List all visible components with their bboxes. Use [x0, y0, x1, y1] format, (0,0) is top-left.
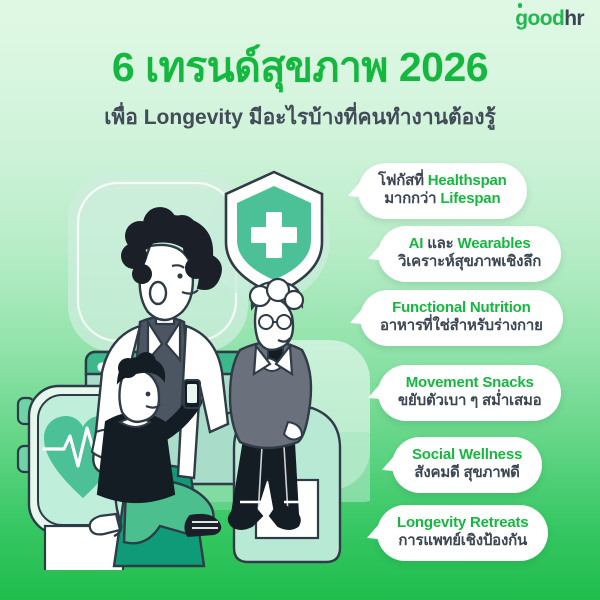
doctor-eye: [177, 273, 182, 278]
trend-5-line-2: สังคมดี สุขภาพดี: [412, 464, 522, 482]
trend-bubble-5[interactable]: Social Wellness สังคมดี สุขภาพดี: [392, 437, 542, 493]
trend-1-line-1: โฟกัสที่ Healthspan: [378, 172, 507, 190]
trend-bubble-4[interactable]: Movement Snacks ขยับตัวเบา ๆ สม่ำเสมอ: [378, 365, 561, 421]
logo-good-text: good: [515, 8, 564, 29]
brand-logo: goodhr: [515, 8, 584, 29]
logo-good-label: good: [515, 7, 564, 30]
trend-4-line-2: ขยับตัวเบา ๆ สม่ำเสมอ: [398, 392, 541, 410]
page-title: 6 เทรนด์สุขภาพ 2026: [0, 46, 600, 89]
trend-1-line-2: มากกว่า Lifespan: [378, 190, 507, 208]
trend-5-line-1: Social Wellness: [412, 446, 522, 464]
trend-bubble-6[interactable]: Longevity Retreats การแพทย์เชิงป้องกัน: [377, 505, 548, 561]
page-subtitle: เพื่อ Longevity มีอะไรบ้างที่คนทำงานต้อง…: [0, 105, 600, 130]
trend-3-line-2: อาหารที่ใช่สำหรับร่างกาย: [380, 317, 543, 335]
seated-shoe: [185, 515, 220, 536]
logo-g-dot-icon: [518, 3, 523, 8]
health-illustration: [0, 150, 370, 570]
trend-bubble-3[interactable]: Functional Nutrition อาหารที่ใช่สำหรับร่…: [360, 290, 563, 346]
trend-6-line-2: การแพทย์เชิงป้องกัน: [397, 532, 528, 550]
trend-2-line-1: AI และ Wearables: [398, 235, 541, 253]
trend-6-line-1: Longevity Retreats: [397, 514, 528, 532]
trend-4-line-1: Movement Snacks: [398, 374, 541, 392]
trend-bubble-1[interactable]: โฟกัสที่ Healthspan มากกว่า Lifespan: [358, 163, 527, 219]
trend-bubble-2[interactable]: AI และ Wearables วิเคราะห์สุขภาพเชิงลึก: [378, 226, 561, 282]
logo-hr-label: hr: [564, 7, 584, 30]
trend-3-line-1: Functional Nutrition: [380, 299, 543, 317]
doctor-face: [140, 245, 193, 320]
trend-2-line-2: วิเคราะห์สุขภาพเชิงลึก: [398, 253, 541, 271]
infographic-poster: goodhr 6 เทรนด์สุขภาพ 2026 เพื่อ Longevi…: [0, 0, 600, 600]
